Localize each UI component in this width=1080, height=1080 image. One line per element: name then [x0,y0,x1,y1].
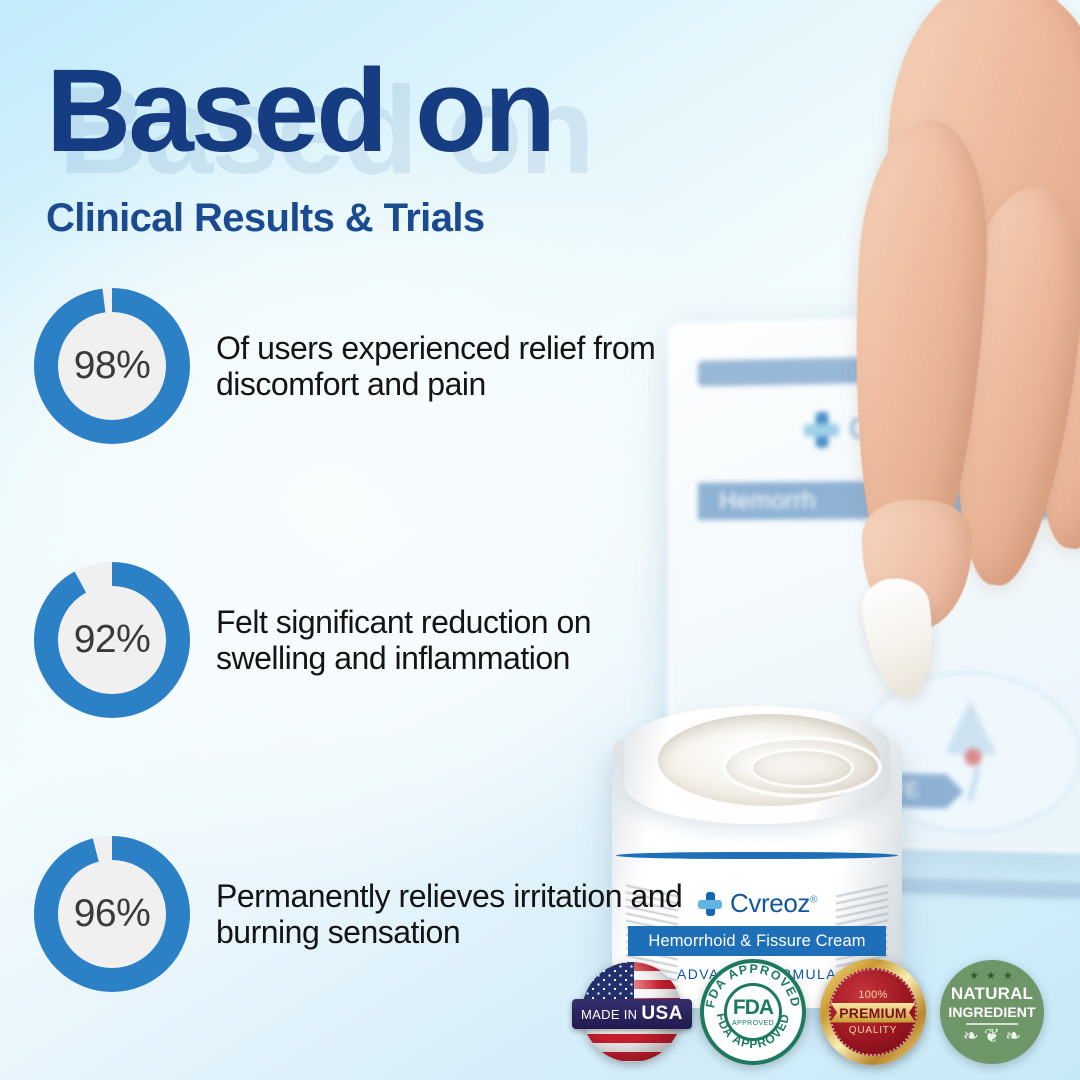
donut-value-label: 98% [34,288,190,444]
stat-description: Of users experienced relief from discomf… [216,330,684,402]
natural-label: NATURAL [951,984,1033,1004]
page-subtitle: Clinical Results & Trials [46,196,485,241]
pain-zigzag-icon [968,767,1015,802]
natural-ingredient-badge: ★ ★ ★ NATURAL INGREDIENT ❧ ❦ ❧ [940,960,1044,1064]
drop-icon [944,700,997,755]
donut-chart-96: 96% [34,836,190,992]
stats-list: 98% Of users experienced relief from dis… [34,288,684,992]
stars-icon: ★ ★ ★ [969,971,1015,982]
stat-description: Felt significant reduction on swelling a… [216,604,684,676]
quality-label: QUALITY [849,1025,897,1036]
natural-circle: ★ ★ ★ NATURAL INGREDIENT ❧ ❦ ❧ [940,960,1044,1064]
leaf-icon: ❧ ❦ ❧ [963,1027,1021,1046]
inflammation-dot-icon [964,748,981,765]
stat-item: 98% Of users experienced relief from dis… [34,288,684,444]
made-in-usa-ribbon: MADE IN USA [572,999,692,1029]
jar-brand-name: Cvreoz® [730,888,817,919]
premium-percent-label: 100% [858,989,887,1001]
divider [966,1023,1018,1025]
page-title: Based on [46,52,553,170]
headline-block: Based on Based on [46,52,553,170]
hand-photo [836,0,1080,700]
promo-canvas: C Hemorrh AST EFFECTIVE 30g C [0,0,1080,1080]
donut-chart-98: 98% [34,288,190,444]
fda-approved-badge: FDA APPROVED FDA APPROVED FDA APPROVED [700,959,806,1065]
stat-item: 92% Felt significant reduction on swelli… [34,562,684,718]
fda-approved-label: APPROVED [732,1020,774,1027]
usa-label: USA [641,1003,683,1025]
fda-inner-seal: FDA APPROVED [724,983,782,1041]
cream-swirl-inner [750,748,854,788]
premium-label: PREMIUM [830,1003,916,1023]
fda-label: FDA [733,997,773,1018]
registered-trademark-icon: ® [810,894,817,905]
stat-description: Permanently relieves irritation and burn… [216,878,684,950]
donut-value-label: 92% [34,562,190,718]
jar-cream-surface [658,714,880,806]
medical-cross-icon [697,891,723,917]
premium-inner: 100% PREMIUM QUALITY [829,968,917,1056]
certification-badges: MADE IN USA FDA APPROVED FDA APPROVED [578,958,1044,1066]
made-in-usa-badge: MADE IN USA [578,958,686,1066]
made-in-label: MADE IN [581,1007,637,1022]
donut-chart-92: 92% [34,562,190,718]
ingredient-label: INGREDIENT [948,1004,1035,1020]
donut-value-label: 96% [34,836,190,992]
premium-quality-badge: 100% PREMIUM QUALITY [820,959,926,1065]
